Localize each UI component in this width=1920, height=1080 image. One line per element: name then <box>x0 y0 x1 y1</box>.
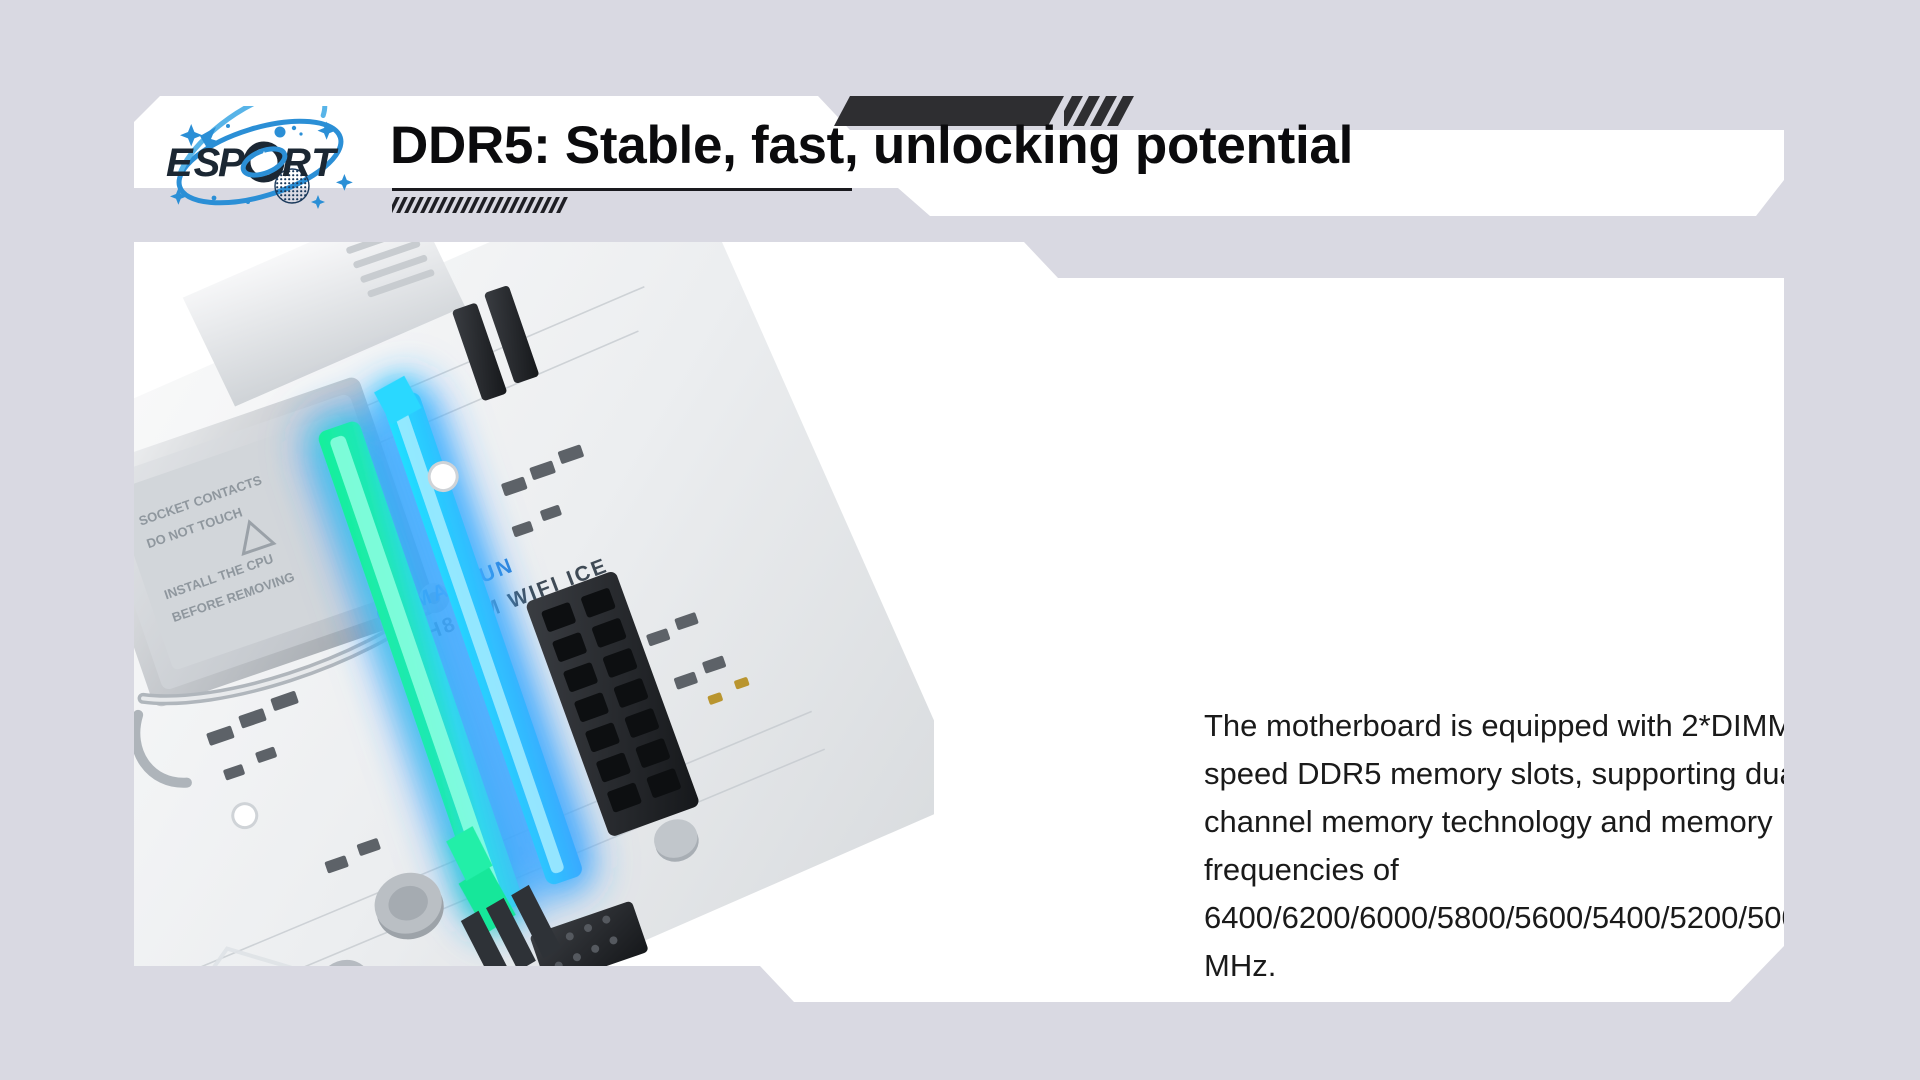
svg-text:ES: ES <box>166 141 221 185</box>
svg-text:RT: RT <box>282 141 339 185</box>
description-paragraph: The motherboard is equipped with 2*DIMM … <box>1204 702 1784 990</box>
page-title: DDR5: Stable, fast, unlocking potential <box>390 110 1730 182</box>
content-panel: SOCKET CONTACTS DO NOT TOUCH INSTALL THE… <box>134 242 1784 1002</box>
svg-text:P: P <box>218 141 246 185</box>
title-hatch-marks <box>392 197 574 213</box>
title-underline <box>392 188 852 191</box>
motherboard-product-image: SOCKET CONTACTS DO NOT TOUCH INSTALL THE… <box>134 242 934 1002</box>
esport-orbit-logo: ES P RT <box>156 106 368 210</box>
description-text: The motherboard is equipped with 2*DIMM … <box>1204 702 1784 990</box>
header-band: ES P RT DDR5: Sta <box>134 96 1784 216</box>
